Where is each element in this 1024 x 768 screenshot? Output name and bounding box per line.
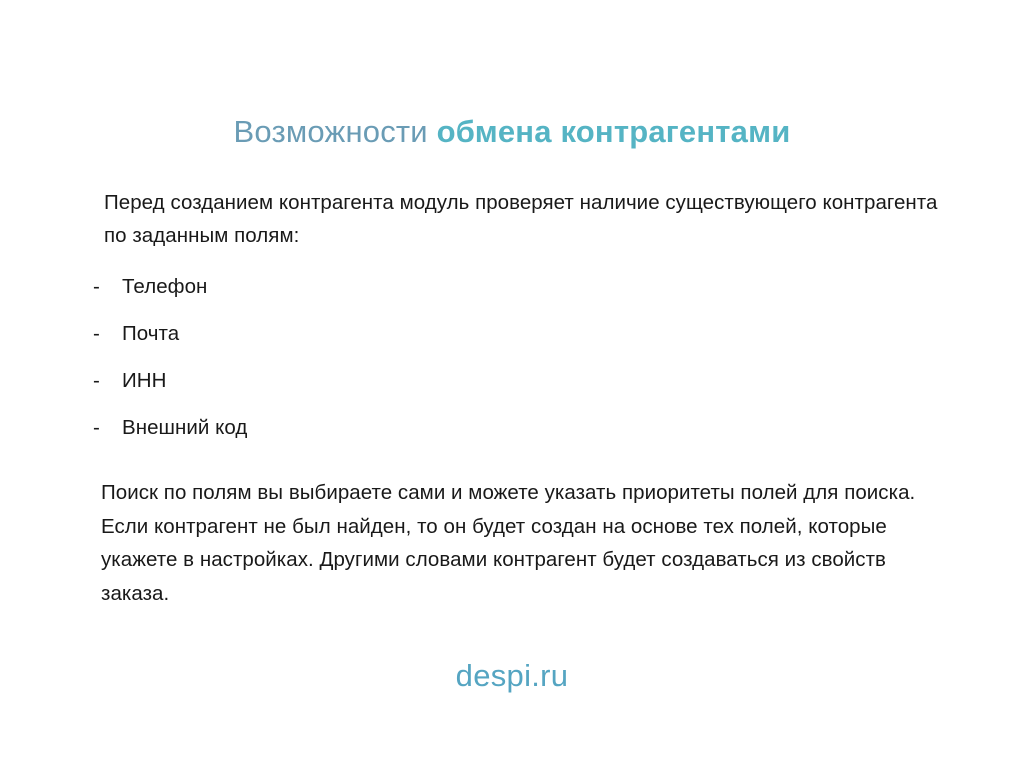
dash-bullet-icon: -: [88, 321, 122, 347]
page-title: Возможности обмена контрагентами: [0, 113, 1024, 151]
page-title-light-part: Возможности: [234, 114, 437, 149]
list-item: - ИНН: [88, 368, 958, 415]
intro-paragraph: Перед созданием контрагента модуль прове…: [88, 186, 958, 252]
slide-body: Перед созданием контрагента модуль прове…: [88, 186, 958, 610]
closing-paragraph: Поиск по полям вы выбираете сами и может…: [88, 476, 958, 610]
list-item: - Телефон: [88, 274, 958, 321]
list-item-label: Телефон: [122, 274, 207, 300]
dash-bullet-icon: -: [88, 274, 122, 300]
list-item-label: Внешний код: [122, 415, 247, 441]
page-title-bold-part: обмена контрагентами: [437, 114, 791, 149]
footer-brand-link[interactable]: despi.ru: [0, 657, 1024, 695]
dash-bullet-icon: -: [88, 368, 122, 394]
list-item: - Внешний код: [88, 415, 958, 462]
field-bullet-list: - Телефон - Почта - ИНН - Внешний код: [88, 274, 958, 462]
presentation-slide: Возможности обмена контрагентами Перед с…: [0, 0, 1024, 768]
list-item-label: ИНН: [122, 368, 167, 394]
dash-bullet-icon: -: [88, 415, 122, 441]
list-item: - Почта: [88, 321, 958, 368]
list-item-label: Почта: [122, 321, 179, 347]
